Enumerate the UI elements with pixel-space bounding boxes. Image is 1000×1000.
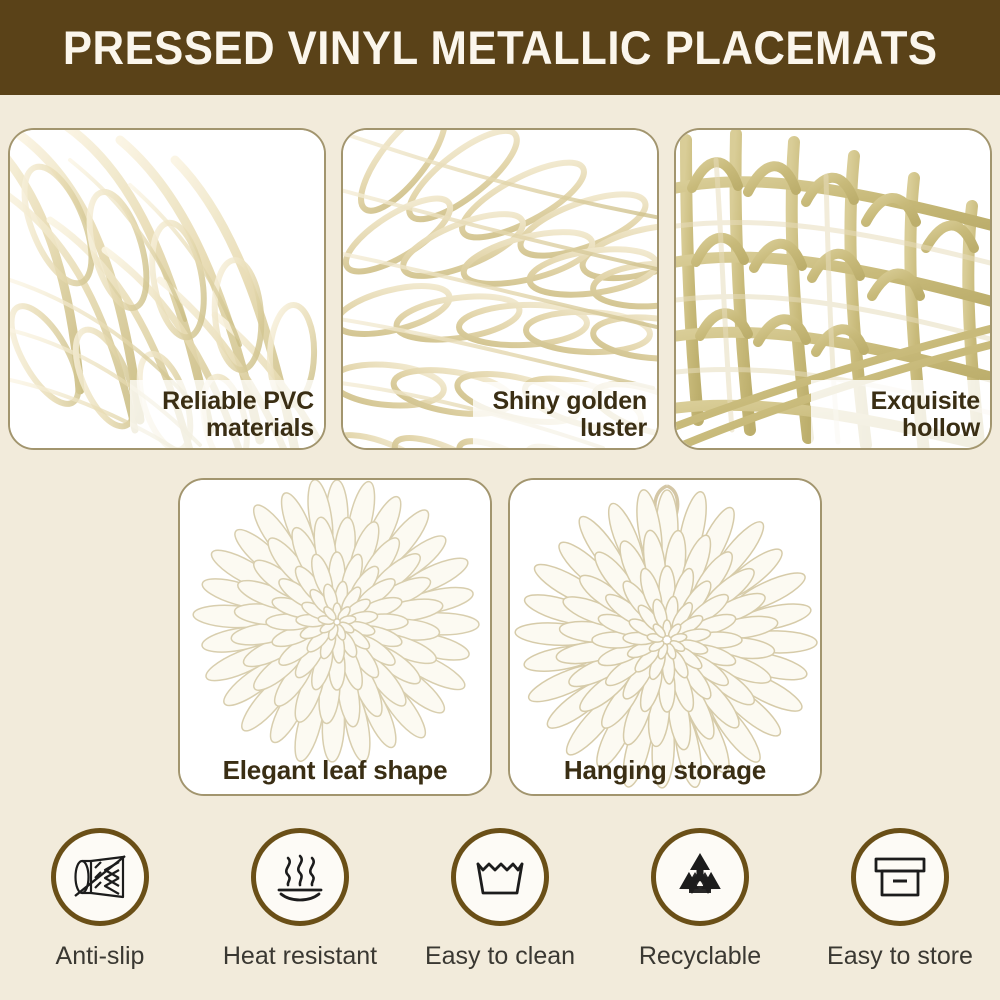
feature-card-exquisite-hollow: Exquisite hollow xyxy=(674,128,992,450)
feature-label: Easy to clean xyxy=(425,942,575,971)
easy-to-store-icon xyxy=(851,828,949,926)
page-title: PRESSED VINYL METALLIC PLACEMATS xyxy=(63,20,938,75)
heat-resistant-icon xyxy=(251,828,349,926)
feature-card-elegant-leaf-shape: Elegant leaf shape xyxy=(178,478,492,796)
feature-label: Anti-slip xyxy=(56,942,145,971)
card-caption: Hanging storage xyxy=(510,756,820,784)
feature-label: Heat resistant xyxy=(223,942,377,971)
card-caption: Reliable PVC materials xyxy=(162,388,314,442)
feature-easy-to-clean: Easy to clean xyxy=(400,828,600,971)
feature-card-shiny-golden-luster: Shiny golden luster xyxy=(341,128,659,450)
feature-card-hanging-storage: Hanging storage xyxy=(508,478,822,796)
card-caption: Exquisite hollow xyxy=(871,388,980,442)
feature-heat-resistant: Heat resistant xyxy=(200,828,400,971)
product-photo-hanging-placemat xyxy=(510,480,820,794)
card-caption: Shiny golden luster xyxy=(492,388,647,442)
feature-recyclable: Recyclable xyxy=(600,828,800,971)
header-banner: PRESSED VINYL METALLIC PLACEMATS xyxy=(0,0,1000,95)
feature-label: Recyclable xyxy=(639,942,761,971)
feature-easy-to-store: Easy to store xyxy=(800,828,1000,971)
product-photo-full-placemat xyxy=(180,480,490,794)
card-caption: Elegant leaf shape xyxy=(180,756,490,784)
easy-to-clean-icon xyxy=(451,828,549,926)
anti-slip-icon xyxy=(51,828,149,926)
recyclable-icon xyxy=(651,828,749,926)
feature-card-reliable-pvc: Reliable PVC materials xyxy=(8,128,326,450)
feature-label: Easy to store xyxy=(827,942,973,971)
feature-anti-slip: Anti-slip xyxy=(0,828,200,971)
feature-icon-row: Anti-slip Heat resistant xyxy=(0,828,1000,1000)
